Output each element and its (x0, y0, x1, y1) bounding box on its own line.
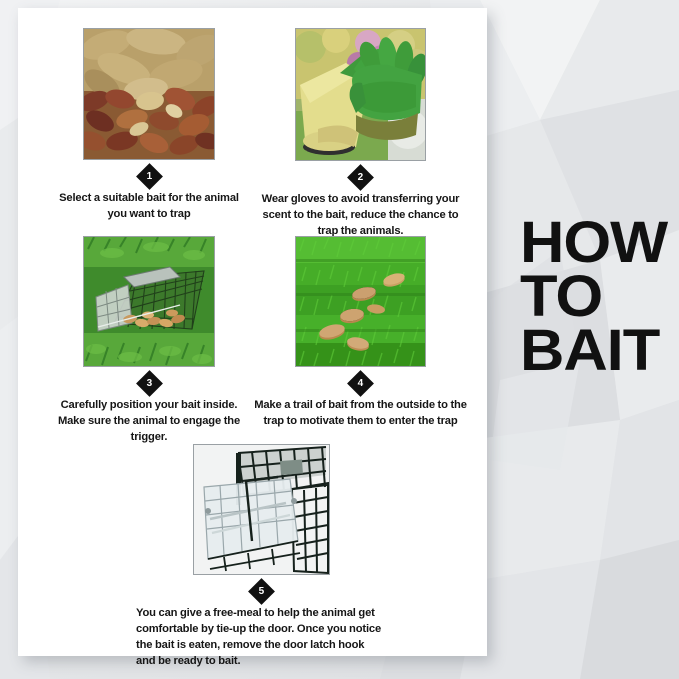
mixed-nuts-bait-photo (83, 28, 215, 160)
page-title: HOW TO BAIT (520, 216, 679, 378)
content-card: 1 Select a suitable bait for the animal … (18, 8, 487, 656)
step-3: 3 Carefully position your bait inside. M… (50, 236, 248, 446)
step-number-badge: 4 (347, 370, 374, 397)
step-number-badge: 2 (347, 164, 374, 191)
headline-line-3: BAIT (520, 324, 679, 378)
step-4: 4 Make a trail of bait from the outside … (253, 236, 468, 430)
step-number-badge: 3 (136, 370, 163, 397)
step-number: 4 (358, 379, 364, 389)
step-caption: Select a suitable bait for the animal yo… (50, 191, 248, 223)
bait-trail-grass-photo (295, 236, 426, 367)
gardening-gloves-photo (295, 28, 426, 161)
baited-cage-trap-photo (83, 236, 215, 367)
step-number-badge: 1 (136, 163, 163, 190)
headline-line-2: TO (520, 270, 679, 324)
step-caption: Carefully position your bait inside. Mak… (50, 398, 248, 446)
step-number: 1 (146, 172, 152, 182)
step-number: 3 (146, 379, 152, 389)
step-number: 5 (258, 587, 264, 597)
trap-door-closeup-photo (193, 444, 330, 575)
step-caption: Wear gloves to avoid transferring your s… (253, 192, 468, 240)
step-caption: Make a trail of bait from the outside to… (253, 398, 468, 430)
step-5: 5 You can give a free-meal to help the a… (136, 444, 386, 670)
step-caption: You can give a free-meal to help the ani… (136, 606, 386, 670)
step-number: 2 (358, 173, 364, 183)
step-number-badge: 5 (248, 578, 275, 605)
steps-container: 1 Select a suitable bait for the animal … (18, 8, 487, 656)
step-2: 2 Wear gloves to avoid transferring your… (253, 28, 468, 240)
headline-line-1: HOW (520, 216, 679, 270)
how-to-bait-infographic: 1 Select a suitable bait for the animal … (0, 0, 679, 679)
step-1: 1 Select a suitable bait for the animal … (50, 28, 248, 223)
